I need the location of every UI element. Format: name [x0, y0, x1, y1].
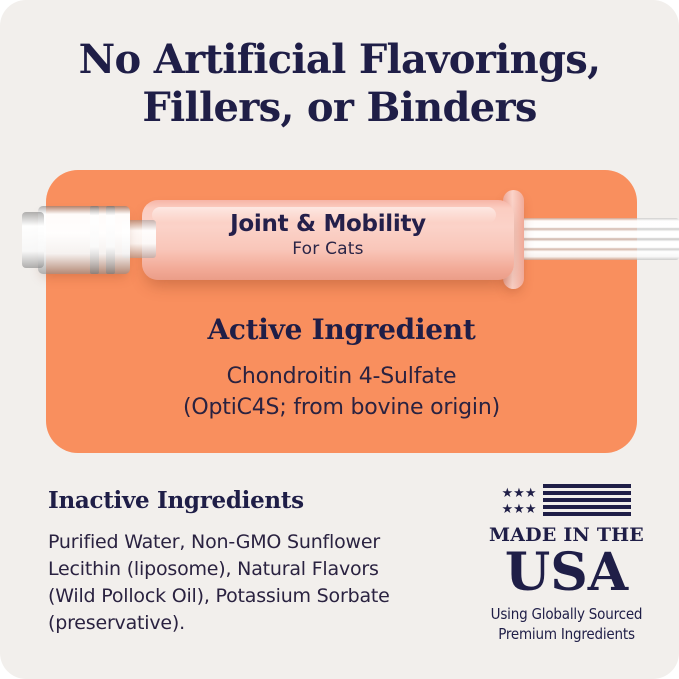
- active-ingredient-block: Active Ingredient Chondroitin 4-Sulfate …: [46, 313, 637, 423]
- stripe-3: [543, 498, 631, 502]
- flag-stripes: [543, 484, 631, 516]
- active-ingredient-line-2: (OptiC4S; from bovine origin): [46, 392, 637, 423]
- syringe-plunger-rod: [506, 218, 679, 260]
- badge-subtitle-line-1: Using Globally Sourced: [489, 604, 644, 624]
- badge-subtitle-line-2: Premium Ingredients: [489, 624, 644, 644]
- headline-line-2: Fillers, or Binders: [0, 84, 679, 132]
- active-ingredient-line-1: Chondroitin 4-Sulfate: [46, 361, 637, 392]
- usa-text: USA: [489, 546, 644, 600]
- syringe-cap-ridge-1: [90, 206, 99, 274]
- inactive-ingredients-list: Purified Water, Non-GMO Sunflower Lecith…: [48, 529, 448, 637]
- inactive-line-3: (Wild Pollock Oil), Potassium Sorbate: [48, 583, 448, 610]
- badge-subtitle: Using Globally Sourced Premium Ingredien…: [489, 604, 644, 644]
- inactive-line-2: Lecithin (liposome), Natural Flavors: [48, 556, 448, 583]
- stars-row-2: ★★★: [502, 502, 537, 515]
- stars-row-1: ★★★: [502, 486, 537, 499]
- syringe-cap-ridge-2: [106, 206, 115, 274]
- headline-line-1: No Artificial Flavorings,: [0, 36, 679, 84]
- active-ingredient-details: Chondroitin 4-Sulfate (OptiC4S; from bov…: [46, 361, 637, 423]
- stripe-5: [543, 512, 631, 516]
- inactive-ingredients-heading: Inactive Ingredients: [48, 487, 448, 515]
- syringe-cap-tip: [22, 212, 44, 268]
- inactive-line-1: Purified Water, Non-GMO Sunflower: [48, 529, 448, 556]
- product-species: For Cats: [142, 238, 514, 260]
- inactive-line-4: (preservative).: [48, 610, 448, 637]
- flag-icon: ★★★ ★★★: [489, 484, 644, 516]
- syringe-illustration: Joint & Mobility For Cats: [0, 186, 679, 306]
- active-ingredient-heading: Active Ingredient: [46, 313, 637, 347]
- syringe-barrel: Joint & Mobility For Cats: [142, 200, 514, 280]
- stripe-1: [543, 484, 631, 488]
- made-in-usa-badge: ★★★ ★★★ MADE IN THE USA Using Globally S…: [489, 484, 644, 644]
- stripe-2: [543, 491, 631, 495]
- flag-stars: ★★★ ★★★: [502, 486, 537, 515]
- stripe-4: [543, 505, 631, 509]
- inactive-ingredients-block: Inactive Ingredients Purified Water, Non…: [48, 487, 448, 637]
- infographic-canvas: No Artificial Flavorings, Fillers, or Bi…: [0, 0, 679, 679]
- product-name: Joint & Mobility: [142, 210, 514, 238]
- syringe-cap: [38, 206, 130, 274]
- syringe-label: Joint & Mobility For Cats: [142, 210, 514, 260]
- page-title: No Artificial Flavorings, Fillers, or Bi…: [0, 36, 679, 132]
